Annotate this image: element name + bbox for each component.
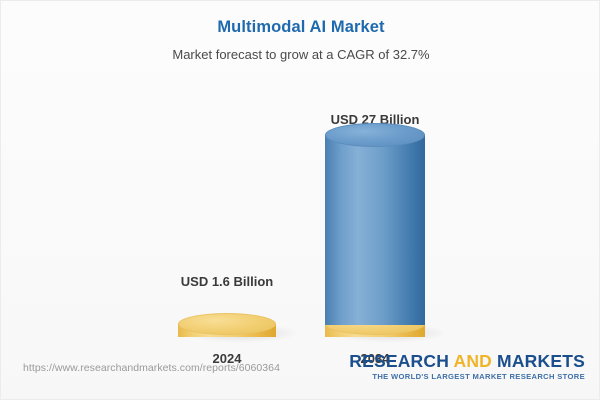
bar-group-2034: USD 27 Billion 2034 <box>325 101 425 337</box>
logo-tagline: THE WORLD'S LARGEST MARKET RESEARCH STOR… <box>349 372 585 382</box>
research-and-markets-logo[interactable]: RESEARCH AND MARKETS THE WORLD'S LARGEST… <box>349 351 585 382</box>
logo-word-and: AND <box>453 351 492 371</box>
plot-area: USD 1.6 Billion 2024 USD 27 Billion 2034 <box>1 79 600 337</box>
logo-word-markets: MARKETS <box>492 351 585 371</box>
logo-word-research: RESEARCH <box>349 351 453 371</box>
bar-group-2024: USD 1.6 Billion 2024 <box>178 101 276 337</box>
chart-header: Multimodal AI Market Market forecast to … <box>1 17 600 63</box>
report-url[interactable]: https://www.researchandmarkets.com/repor… <box>23 362 280 374</box>
chart-card: Multimodal AI Market Market forecast to … <box>0 0 600 400</box>
bar-top-ellipse-2034 <box>325 123 425 147</box>
chart-title: Multimodal AI Market <box>1 17 600 37</box>
bar-body-2034 <box>325 135 425 325</box>
bar-value-label-2024: USD 1.6 Billion <box>181 274 273 290</box>
bar-cylinder-2024[interactable] <box>178 313 276 337</box>
bar-top-ellipse-2024 <box>178 313 276 335</box>
chart-subtitle: Market forecast to grow at a CAGR of 32.… <box>1 46 600 63</box>
logo-wordmark: RESEARCH AND MARKETS <box>349 351 585 371</box>
bar-cylinder-2034[interactable] <box>325 135 425 337</box>
chart-footer: https://www.researchandmarkets.com/repor… <box>1 341 600 399</box>
